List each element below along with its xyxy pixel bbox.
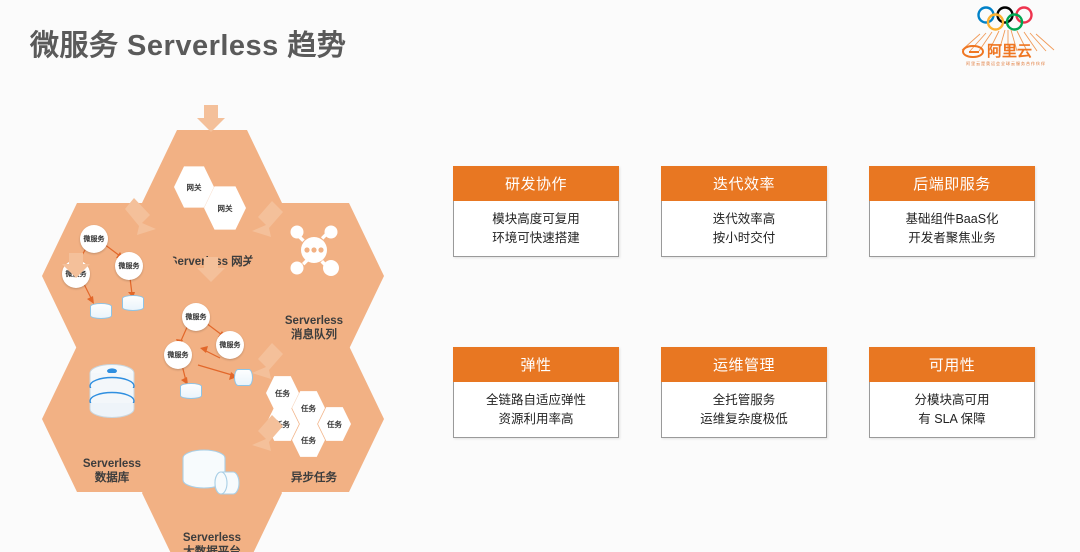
card-body: 基础组件BaaS化 开发者聚焦业务 bbox=[869, 201, 1035, 257]
card-elasticity[interactable]: 弹性 全链路自适应弹性 资源利用率高 bbox=[453, 347, 619, 438]
hex-label-bigdata: Serverless 大数据平台 bbox=[183, 531, 241, 552]
serverless-architecture-diagram: 网关 网关 Serverless 网关 微服务 微服务 微服务 bbox=[22, 105, 432, 525]
card-title: 迭代效率 bbox=[661, 166, 827, 201]
card-body: 模块高度可复用 环境可快速搭建 bbox=[453, 201, 619, 257]
brand-name: 阿里云 bbox=[987, 44, 1032, 59]
card-line: 开发者聚焦业务 bbox=[908, 229, 996, 247]
card-line: 有 SLA 保障 bbox=[918, 410, 985, 428]
page-title: 微服务 Serverless 趋势 bbox=[30, 22, 346, 64]
card-line: 全托管服务 bbox=[713, 391, 776, 409]
card-research-collaboration[interactable]: 研发协作 模块高度可复用 环境可快速搭建 bbox=[453, 166, 619, 257]
card-line: 基础组件BaaS化 bbox=[905, 210, 998, 228]
card-title: 可用性 bbox=[869, 347, 1035, 382]
card-backend-as-a-service[interactable]: 后端即服务 基础组件BaaS化 开发者聚焦业务 bbox=[869, 166, 1035, 257]
alibaba-cloud-olympic-logo: 阿里云 阿里云是奥运会全球云服务合作伙伴 bbox=[954, 4, 1062, 76]
card-title: 运维管理 bbox=[661, 347, 827, 382]
card-body: 全托管服务 运维复杂度极低 bbox=[661, 382, 827, 438]
alibaba-cloud-brandmark-icon bbox=[962, 45, 984, 58]
hex-label-cn: 大数据平台 bbox=[183, 545, 241, 552]
card-line: 环境可快速搭建 bbox=[492, 229, 580, 247]
diagram-connectors bbox=[22, 105, 432, 525]
card-operations-management[interactable]: 运维管理 全托管服务 运维复杂度极低 bbox=[661, 347, 827, 438]
alibaba-cloud-wordmark: 阿里云 bbox=[962, 44, 1032, 59]
hex-label-en: Serverless bbox=[183, 531, 241, 545]
card-line: 全链路自适应弹性 bbox=[486, 391, 586, 409]
card-body: 迭代效率高 按小时交付 bbox=[661, 201, 827, 257]
card-line: 分模块高可用 bbox=[914, 391, 989, 409]
card-line: 运维复杂度极低 bbox=[700, 410, 788, 428]
logo-tagline: 阿里云是奥运会全球云服务合作伙伴 bbox=[966, 61, 1046, 67]
card-title: 弹性 bbox=[453, 347, 619, 382]
card-line: 模块高度可复用 bbox=[492, 210, 580, 228]
card-title: 后端即服务 bbox=[869, 166, 1035, 201]
card-line: 迭代效率高 bbox=[713, 210, 776, 228]
card-title: 研发协作 bbox=[453, 166, 619, 201]
card-iteration-efficiency[interactable]: 迭代效率 迭代效率高 按小时交付 bbox=[661, 166, 827, 257]
card-body: 分模块高可用 有 SLA 保障 bbox=[869, 382, 1035, 438]
card-body: 全链路自适应弹性 资源利用率高 bbox=[453, 382, 619, 438]
card-availability[interactable]: 可用性 分模块高可用 有 SLA 保障 bbox=[869, 347, 1035, 438]
card-line: 按小时交付 bbox=[713, 229, 776, 247]
card-line: 资源利用率高 bbox=[498, 410, 573, 428]
